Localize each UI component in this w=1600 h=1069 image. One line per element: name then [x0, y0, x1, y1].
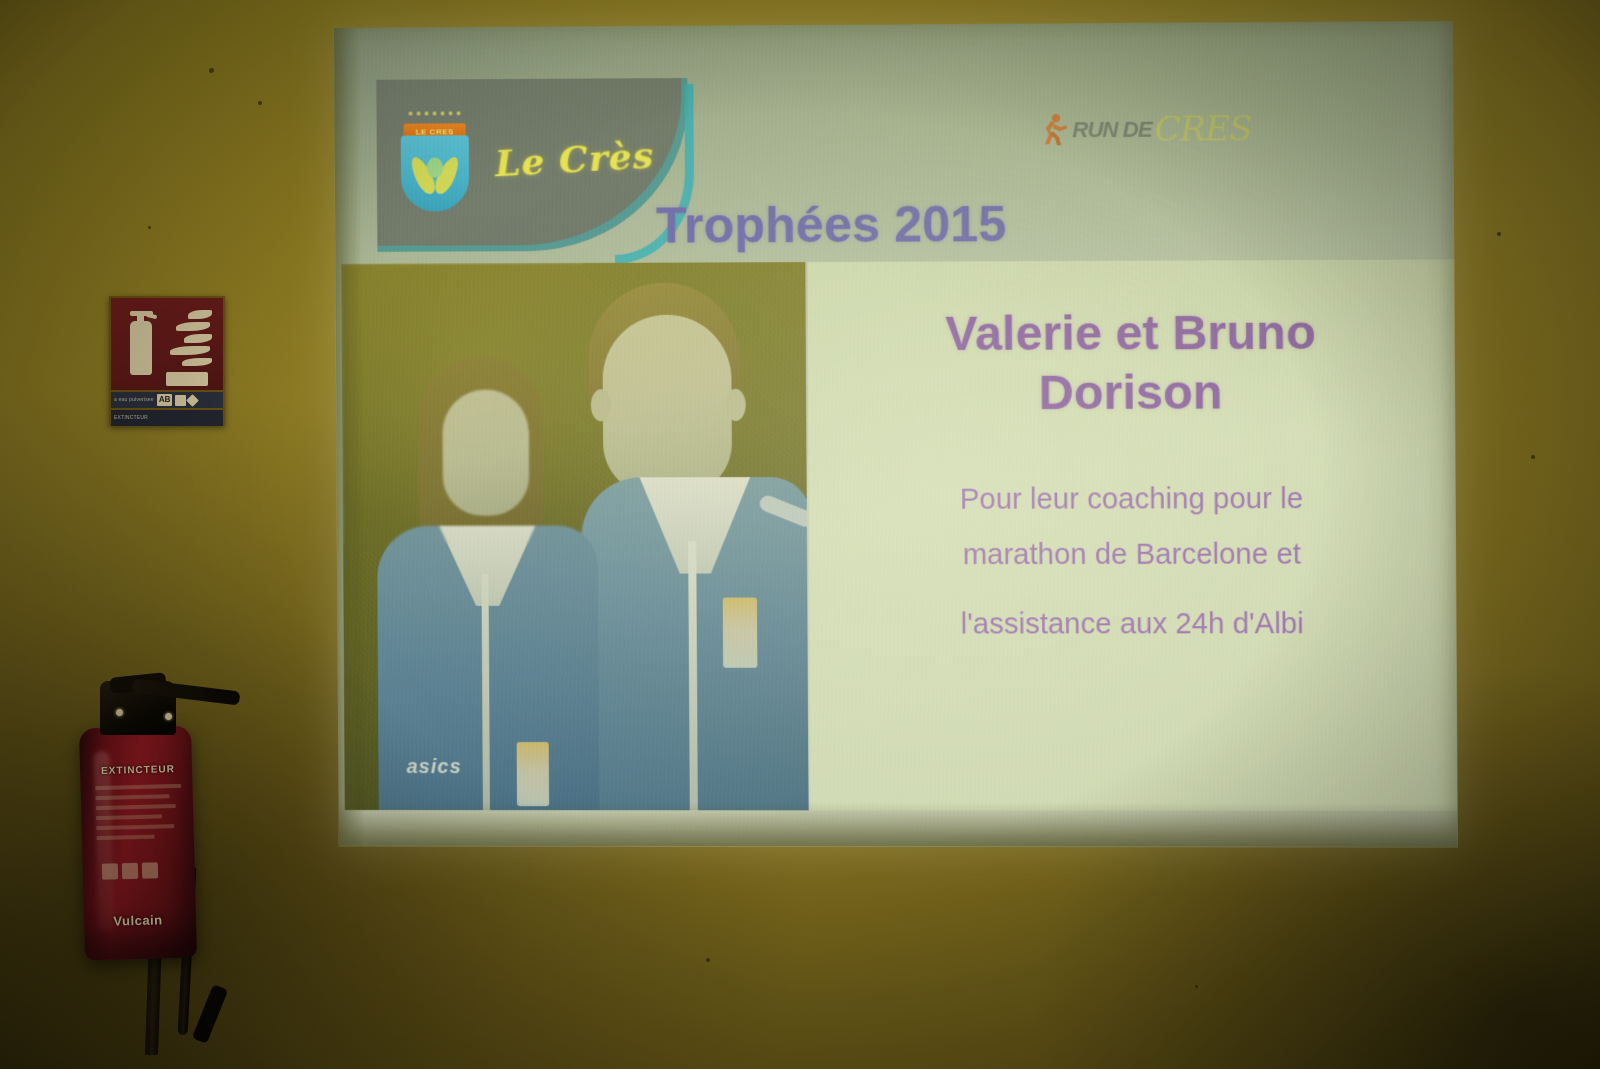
- citation-line3: l'assistance aux 24h d'Albi: [840, 597, 1426, 653]
- slide-text-panel: Valerie et Bruno Dorison Pour leur coach…: [807, 259, 1457, 810]
- partner-logo-word-secondary: CRES: [1155, 109, 1252, 150]
- sign-base-bar: [166, 372, 208, 386]
- partner-logo-word-primary: RUN DE: [1072, 117, 1152, 144]
- projected-slide-photo: a eau pulverisee AB EXTINCTEUR EXTINCTEU…: [0, 0, 1600, 1069]
- extinguisher-brand-text: Vulcain: [113, 912, 163, 928]
- man-jacket-badge: [723, 598, 758, 668]
- projected-slide: LE CRES Le Crès RUN: [334, 21, 1458, 847]
- woman-jacket-zip: [481, 574, 489, 811]
- man-ear: [725, 389, 745, 421]
- flames-icon: [166, 310, 214, 370]
- extinguisher-brand: Vulcain: [92, 912, 184, 929]
- citation-text: Pour leur coaching pour le marathon de B…: [809, 472, 1457, 653]
- sign-strip-text-secondary: EXTINCTEUR: [114, 416, 148, 421]
- slide-title: Trophées 2015: [656, 195, 1007, 255]
- extinguisher-safety-pin[interactable]: [116, 709, 123, 716]
- jacket-brand-text: asics: [406, 756, 461, 779]
- town-crest-icon: LE CRES: [401, 105, 470, 213]
- extinguisher-class-pictograms: [102, 862, 158, 879]
- running-figure-icon: [1039, 113, 1070, 147]
- woman-jacket-badge: [517, 742, 549, 806]
- club-logo: LE CRES Le Crès: [376, 78, 688, 252]
- sign-pictogram-panel: [111, 298, 223, 390]
- honoree-name-line2: Dorison: [826, 363, 1437, 424]
- honorees-photo: asics: [341, 262, 808, 810]
- extinguisher-rivet: [165, 713, 172, 720]
- sign-class-strip: a eau pulverisee AB: [111, 392, 223, 408]
- sign-strip-text: a eau pulverisee: [114, 398, 154, 403]
- citation-line1: Pour leur coaching pour le: [839, 472, 1425, 529]
- sign-info-strip: EXTINCTEUR: [111, 410, 223, 426]
- crest-emblem: [415, 151, 455, 199]
- sign-picto-group: [175, 395, 197, 406]
- man-jacket-zip: [688, 541, 698, 810]
- man-ear: [591, 389, 611, 421]
- man-face: [602, 315, 732, 496]
- fire-extinguisher-icon: [128, 310, 155, 375]
- fire-safety-sign: a eau pulverisee AB EXTINCTEUR: [109, 296, 225, 426]
- woman-face: [442, 389, 529, 515]
- fire-extinguisher: EXTINCTEUR Vulcain: [62, 655, 247, 1055]
- sign-class-label: AB: [157, 394, 173, 406]
- sign-picto: [175, 395, 186, 406]
- citation-line2: marathon de Barcelone et: [839, 527, 1425, 583]
- honoree-name: Valerie et Bruno Dorison: [808, 304, 1455, 424]
- extinguisher-nozzle: [192, 984, 229, 1044]
- honoree-name-line1: Valerie et Bruno: [826, 304, 1437, 365]
- sign-picto: [187, 394, 200, 407]
- partner-logo: RUN DE CRES: [1039, 105, 1252, 154]
- extinguisher-label-text: [95, 784, 183, 846]
